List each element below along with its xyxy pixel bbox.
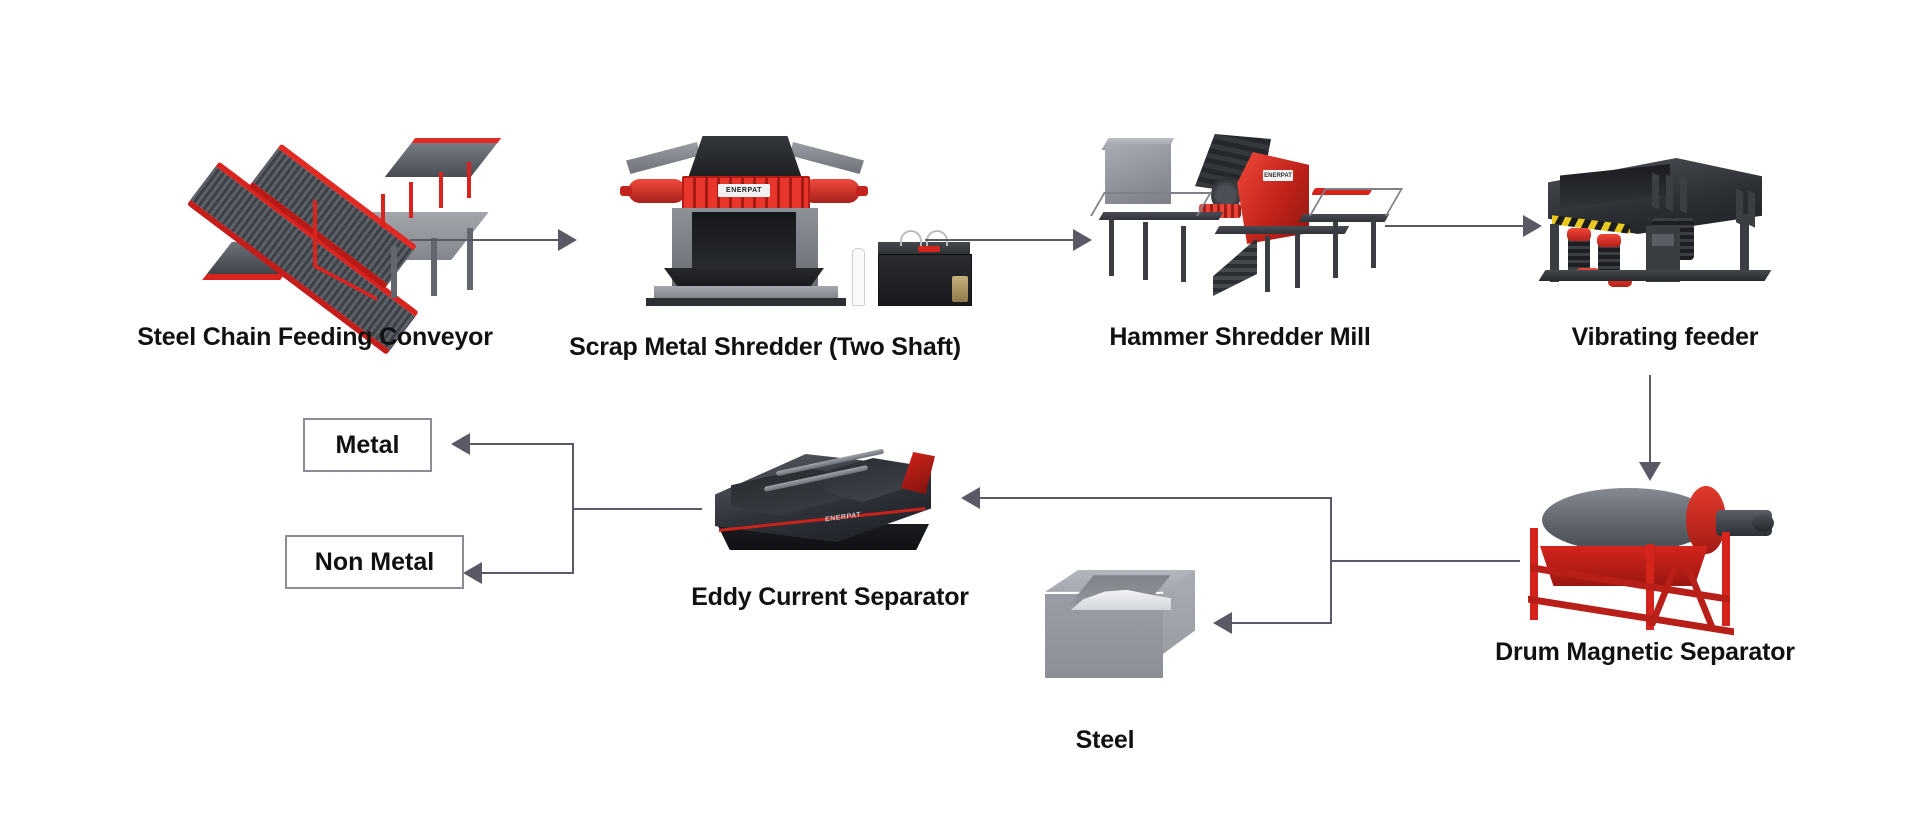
connector-eddy-to-bus <box>572 508 702 510</box>
hammer-mill-stairs <box>1213 238 1257 296</box>
drum-frame-leg <box>1530 528 1538 620</box>
shredder-shaft-right <box>802 179 860 203</box>
equipment-eddy-current-separator: ENERPAT <box>705 430 965 580</box>
conveyor-leg <box>391 246 397 298</box>
arrow-feeder-to-drum-line <box>1649 375 1651 465</box>
hammer-mill-post <box>1333 222 1338 278</box>
caption-drum-magnetic-separator: Drum Magnetic Separator <box>1475 640 1815 665</box>
feeder-stiffener-fin <box>1666 174 1673 211</box>
shredder-base-skid <box>646 298 846 306</box>
caption-steel: Steel <box>1040 728 1170 753</box>
equipment-vibrating-feeder <box>1524 150 1784 310</box>
conveyor-top-deck <box>385 138 501 177</box>
hammer-mill-post <box>1295 232 1300 288</box>
connector-bus-to-eddy-line <box>980 497 1332 499</box>
feeder-pillar-window <box>1652 234 1674 246</box>
shredder-hopper-wing-left <box>626 142 700 174</box>
equipment-steel-chain-feeding-conveyor <box>195 120 485 305</box>
equipment-drum-magnetic-separator <box>1500 470 1790 640</box>
arrow-shredder-to-hammer-line <box>925 239 1075 241</box>
hammer-mill-post <box>1181 226 1186 282</box>
caption-vibrating-feeder: Vibrating feeder <box>1540 325 1790 350</box>
connector-bus-to-metal-line <box>470 443 574 445</box>
hydraulic-hose <box>900 230 922 246</box>
conveyor-rail-post <box>381 194 385 228</box>
drum-motor <box>1752 514 1774 532</box>
connector-bus-left <box>572 443 574 573</box>
shredder-shaft-cap-right <box>856 186 868 196</box>
caption-scrap-metal-shredder: Scrap Metal Shredder (Two Shaft) <box>555 335 975 360</box>
arrow-hammer-to-feeder-line <box>1385 225 1525 227</box>
arrow-shredder-to-hammer-head <box>1073 229 1092 251</box>
shredder-shaft-cap-left <box>620 186 632 196</box>
feeder-support-pillar <box>1740 214 1749 270</box>
arrow-conveyor-to-shredder-line <box>410 239 560 241</box>
hammer-mill-railing-right <box>1309 188 1403 216</box>
hammer-mill-post <box>1143 222 1148 280</box>
output-label-metal: Metal <box>336 431 400 460</box>
shredder-hopper-wing-right <box>790 142 864 174</box>
equipment-hammer-shredder-mill: ENERPAT <box>1095 130 1395 310</box>
shredder-discharge-mouth <box>692 212 796 274</box>
hammer-mill-platform-center <box>1215 226 1350 234</box>
shredder-brand-badge: ENERPAT <box>718 184 770 197</box>
connector-bus-right <box>1330 497 1332 624</box>
hammer-mill-post <box>1371 216 1376 268</box>
feeder-spring-cap <box>1597 234 1621 247</box>
connector-bus-to-metal-head <box>451 433 470 455</box>
scale-figure-person <box>852 248 865 306</box>
caption-eddy-current-separator: Eddy Current Separator <box>680 585 980 610</box>
feeder-base-frame <box>1539 270 1772 281</box>
connector-bus-to-steel-head <box>1213 612 1232 634</box>
hydraulic-valve <box>918 246 940 252</box>
equipment-scrap-metal-shredder-two-shaft: ENERPAT <box>600 130 930 310</box>
equipment-steel-output-bin <box>1045 560 1210 690</box>
conveyor-rail-post <box>467 162 471 198</box>
hammer-mill-brand-plate: ENERPAT <box>1263 170 1293 181</box>
hydraulic-tank <box>952 276 968 302</box>
shredder-shaft-left <box>628 179 686 203</box>
connector-bus-to-steel-line <box>1232 622 1332 624</box>
drum-frame-leg <box>1722 532 1730 626</box>
caption-hammer-shredder-mill: Hammer Shredder Mill <box>1080 325 1400 350</box>
hammer-mill-post <box>1109 218 1114 276</box>
hydraulic-hose <box>926 230 948 246</box>
arrow-conveyor-to-shredder-head <box>558 229 577 251</box>
output-box-non-metal[interactable]: Non Metal <box>285 535 464 589</box>
connector-bus-to-nonmetal-head <box>463 562 482 584</box>
feeder-stiffener-fin <box>1748 190 1755 227</box>
conveyor-leg <box>467 228 473 290</box>
output-label-non-metal: Non Metal <box>315 548 434 577</box>
feeder-stiffener-fin <box>1680 176 1687 213</box>
conveyor-rail-post <box>409 182 413 218</box>
conveyor-leg <box>431 238 437 296</box>
hammer-mill-railing-left <box>1090 192 1212 216</box>
output-box-metal[interactable]: Metal <box>303 418 432 472</box>
process-flow-diagram: Steel Chain Feeding Conveyor ENERPAT Scr… <box>0 0 1920 827</box>
conveyor-rail-post <box>439 172 443 208</box>
feeder-stiffener-fin <box>1652 172 1659 209</box>
connector-drum-to-bus <box>1330 560 1520 562</box>
hammer-mill-post <box>1265 236 1270 292</box>
connector-bus-to-nonmetal-line <box>482 572 574 574</box>
feeder-spring-cap <box>1567 228 1591 241</box>
caption-steel-chain-feeding-conveyor: Steel Chain Feeding Conveyor <box>135 325 495 350</box>
